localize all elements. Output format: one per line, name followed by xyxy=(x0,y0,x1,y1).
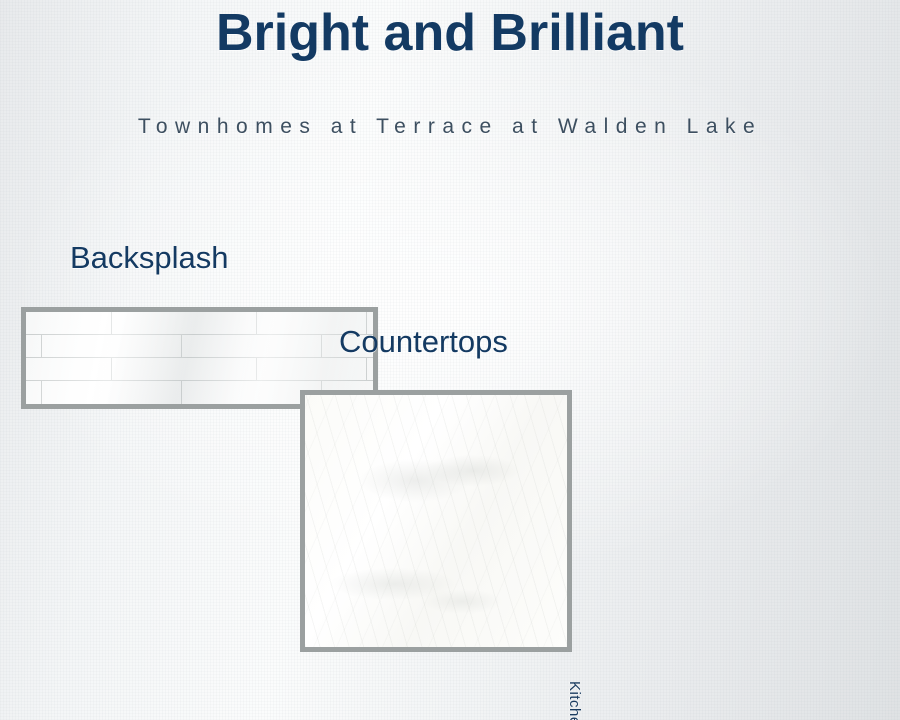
label-backsplash: Backsplash xyxy=(70,242,900,273)
label-countertops: Countertops xyxy=(339,326,900,357)
page-title: Bright and Brilliant xyxy=(0,6,900,61)
swatch-countertop-kitchen[interactable] xyxy=(300,390,572,652)
page-subtitle: Townhomes at Terrace at Walden Lake xyxy=(0,115,900,139)
design-selections-board: Bright and Brilliant Townhomes at Terrac… xyxy=(0,0,900,720)
label-kitchen: Kitchen xyxy=(566,681,583,720)
quartz-texture xyxy=(305,395,567,647)
